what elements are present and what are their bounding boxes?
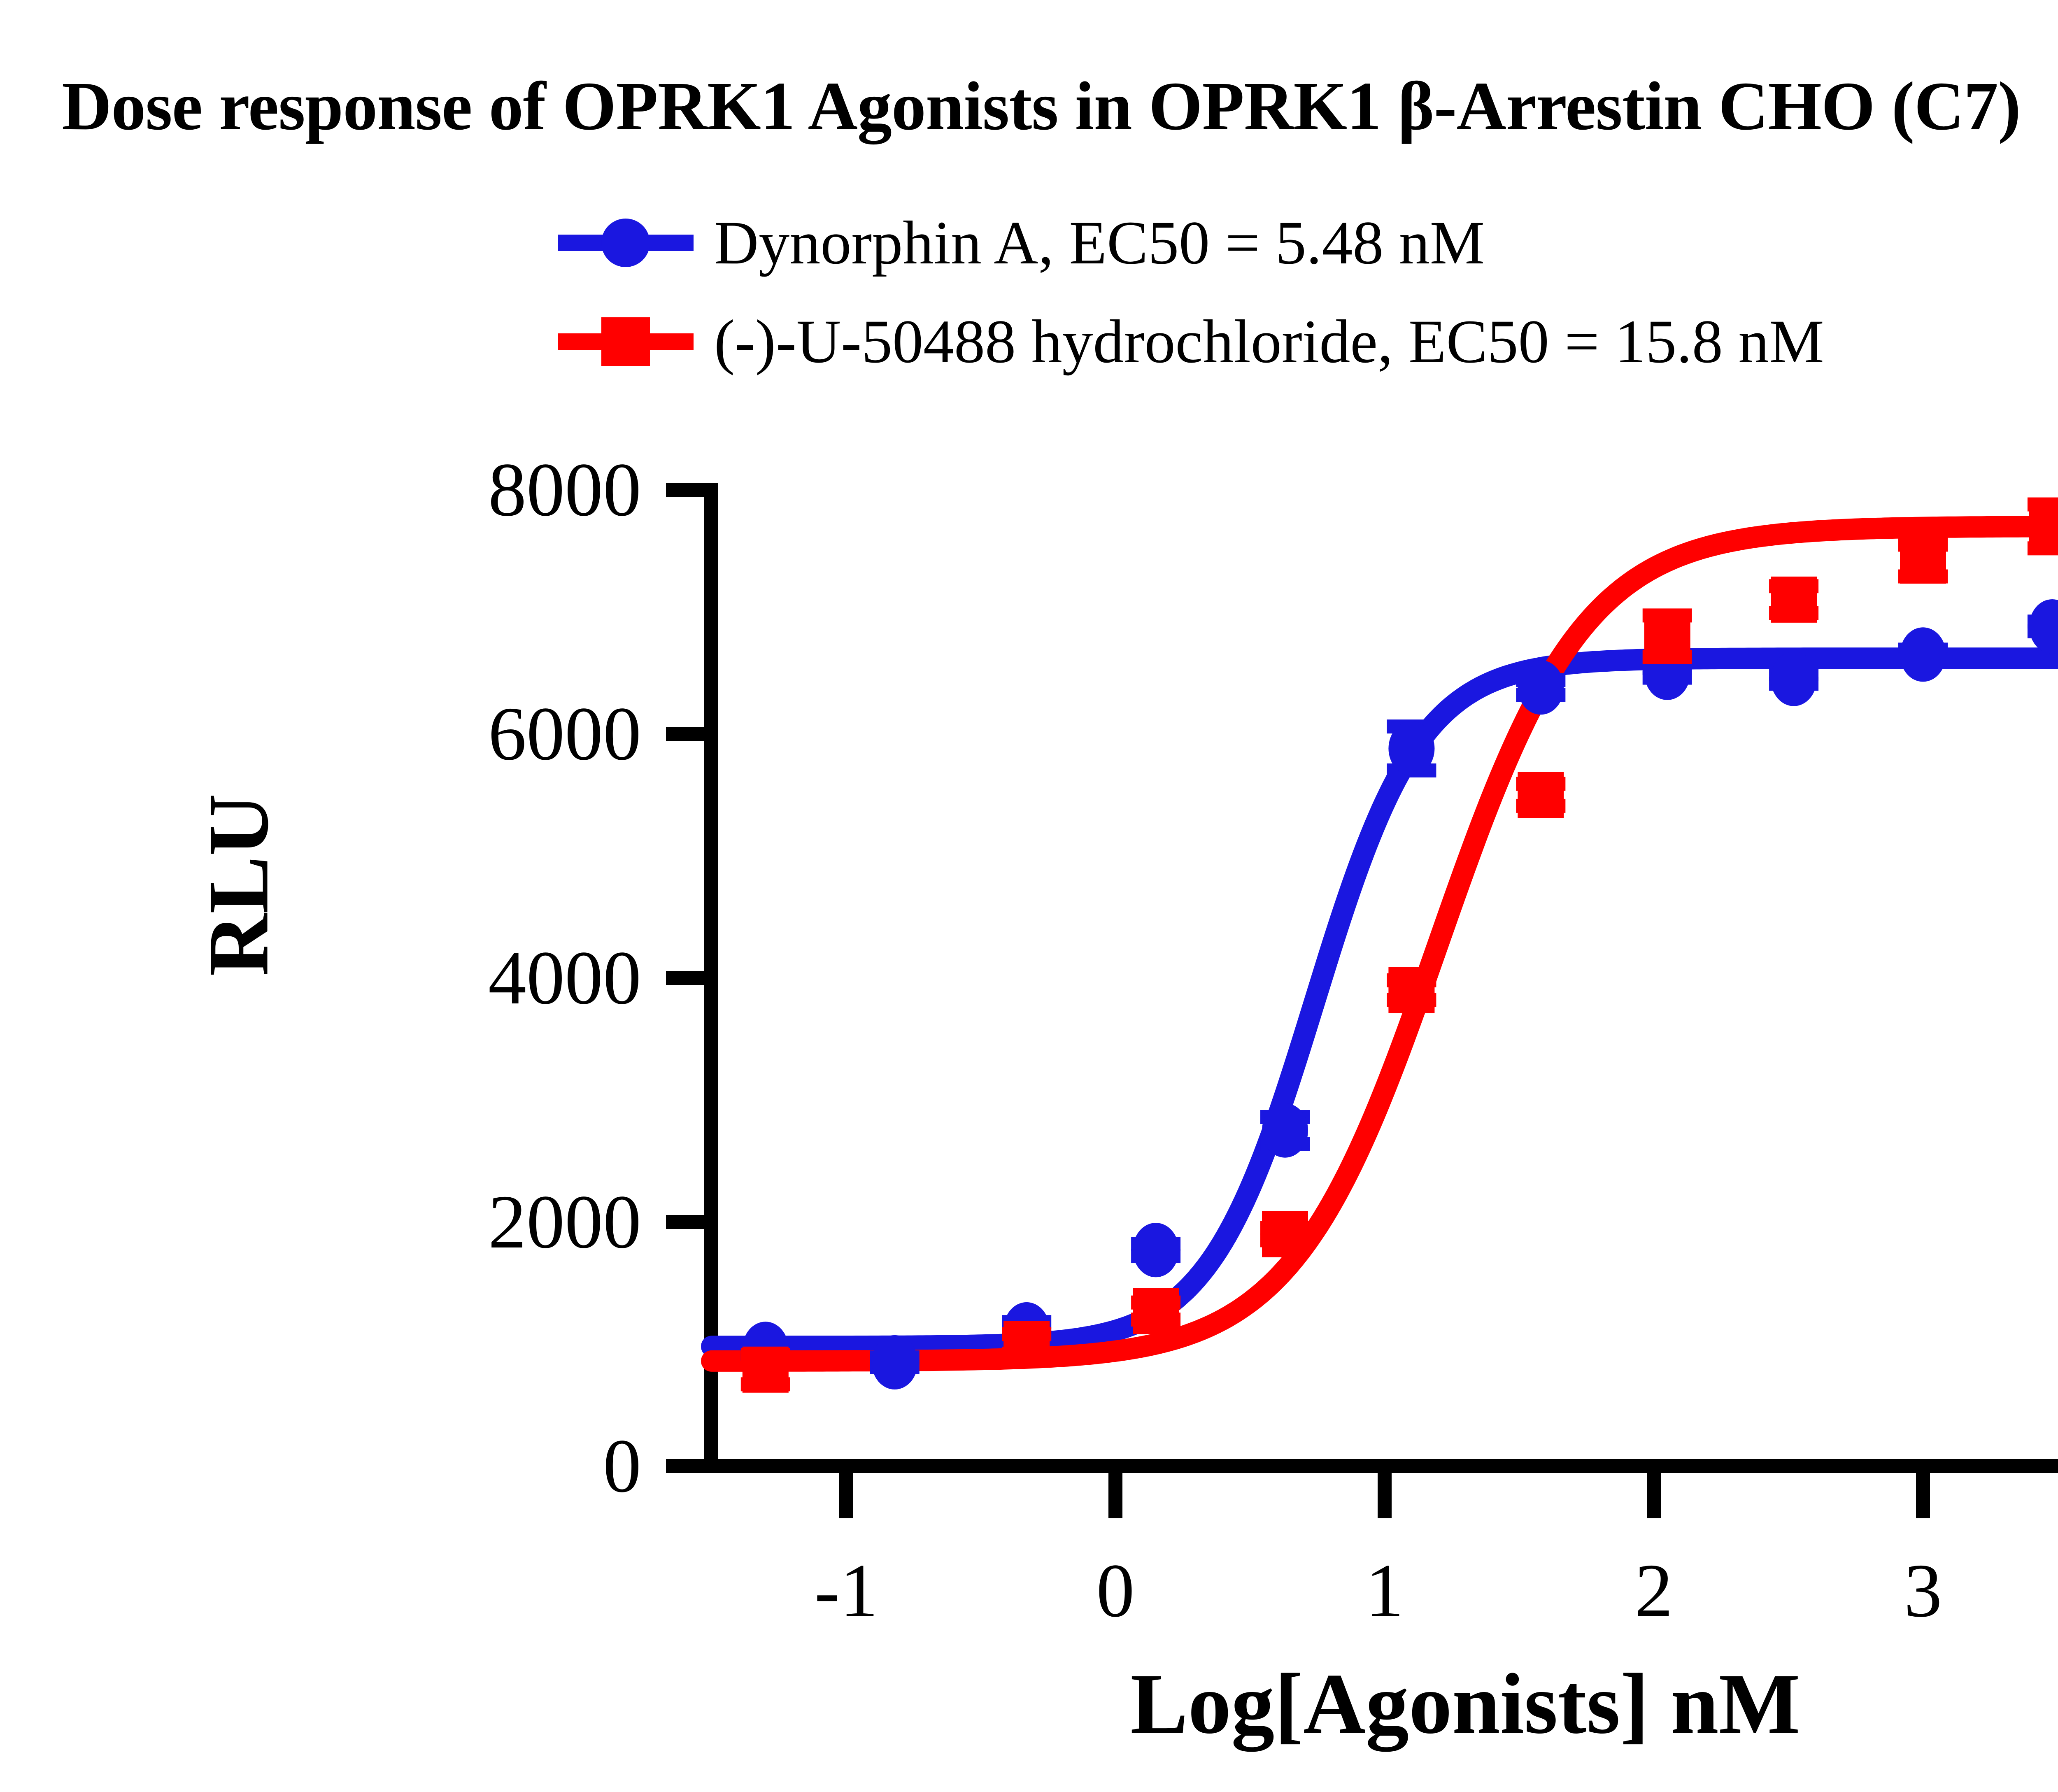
data-point-square — [1262, 1211, 1308, 1257]
data-point-circle — [1518, 660, 1564, 714]
y-tick-label: 4000 — [288, 940, 641, 1016]
x-tick-label: 0 — [1097, 1552, 1135, 1629]
data-point-circle — [872, 1335, 918, 1389]
data-point-square — [1644, 613, 1690, 659]
data-point-square — [1518, 772, 1564, 818]
x-tick-label: 3 — [1904, 1552, 1942, 1629]
y-tick-label: 2000 — [288, 1184, 641, 1260]
data-point-circle — [1771, 652, 1817, 706]
data-point-circle — [2029, 599, 2058, 654]
data-point-square — [1900, 538, 1946, 584]
y-axis-label: RLU — [189, 794, 289, 976]
data-point-square — [743, 1347, 789, 1393]
data-point-square — [1388, 967, 1434, 1013]
y-tick-label: 6000 — [288, 696, 641, 772]
series-1 — [741, 498, 2058, 1393]
data-point-circle — [1133, 1223, 1179, 1277]
x-tick-label: -1 — [815, 1552, 878, 1629]
data-point-square — [1003, 1321, 1050, 1367]
chart-page: Dose response of OPRK1 Agonists in OPRK1… — [0, 0, 2058, 1792]
data-point-circle — [1900, 627, 1946, 682]
axis-spines — [704, 483, 2058, 1473]
y-tick-label: 8000 — [288, 451, 641, 528]
x-tick-label: 2 — [1635, 1552, 1673, 1629]
data-point-circle — [1262, 1103, 1308, 1158]
x-axis-label: Log[Agonists] nM — [1130, 1655, 1800, 1754]
plot-canvas — [0, 0, 2058, 1792]
fit-curve-0 — [712, 658, 2058, 1346]
data-point-square — [2029, 503, 2058, 549]
x-tick-label: 1 — [1366, 1552, 1404, 1629]
y-tick-label: 0 — [288, 1428, 641, 1504]
data-point-circle — [1388, 721, 1434, 776]
data-point-square — [1133, 1288, 1179, 1334]
plot-area — [0, 0, 2058, 1792]
data-point-square — [1771, 577, 1817, 623]
